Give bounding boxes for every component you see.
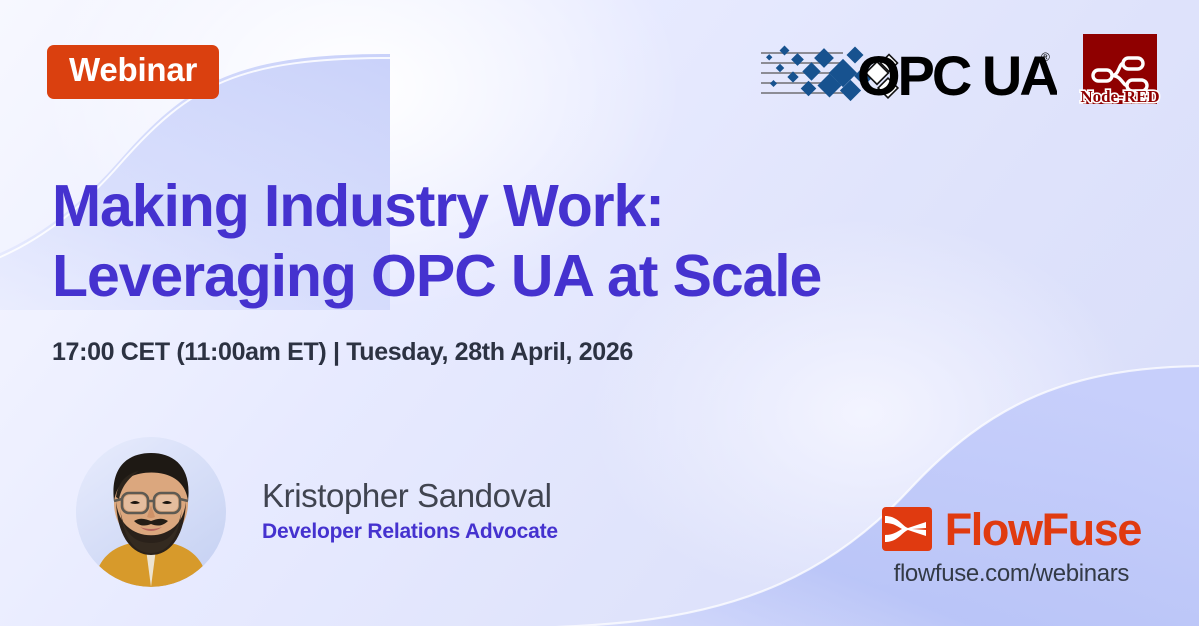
node-red-logo: Node-RED (1079, 30, 1161, 112)
flowfuse-wordmark: FlowFuse (945, 507, 1141, 552)
flowfuse-mark-icon (882, 504, 932, 554)
flowfuse-logo-lockup[interactable]: FlowFuse (882, 504, 1141, 554)
speaker-portrait (76, 437, 226, 587)
node-red-label: Node-RED (1080, 87, 1159, 106)
webinar-badge: Webinar (47, 45, 219, 99)
avatar (76, 437, 226, 587)
page-title-line-1: Making Industry Work: (52, 172, 932, 242)
speaker-text: Kristopher Sandoval Developer Relations … (262, 476, 558, 548)
registered-trademark-icon: ® (1041, 50, 1050, 64)
speaker-block: Kristopher Sandoval Developer Relations … (76, 437, 558, 587)
flowfuse-url[interactable]: flowfuse.com/webinars (894, 560, 1129, 588)
svg-text:OPC UA: OPC UA (857, 44, 1057, 107)
page-title-line-2: Leveraging OPC UA at Scale (52, 242, 932, 312)
partner-logo-row: OPC UA OPC UA ® Node-RED (757, 30, 1161, 112)
opc-ua-logo: OPC UA OPC UA ® (757, 35, 1057, 107)
speaker-name: Kristopher Sandoval (262, 476, 558, 516)
webinar-banner: Webinar (0, 0, 1199, 626)
speaker-role: Developer Relations Advocate (262, 520, 558, 544)
brand-block[interactable]: FlowFuse flowfuse.com/webinars (882, 504, 1141, 588)
title-block: Making Industry Work: Leveraging OPC UA … (52, 172, 932, 367)
event-datetime: 17:00 CET (11:00am ET) | Tuesday, 28th A… (52, 338, 932, 367)
